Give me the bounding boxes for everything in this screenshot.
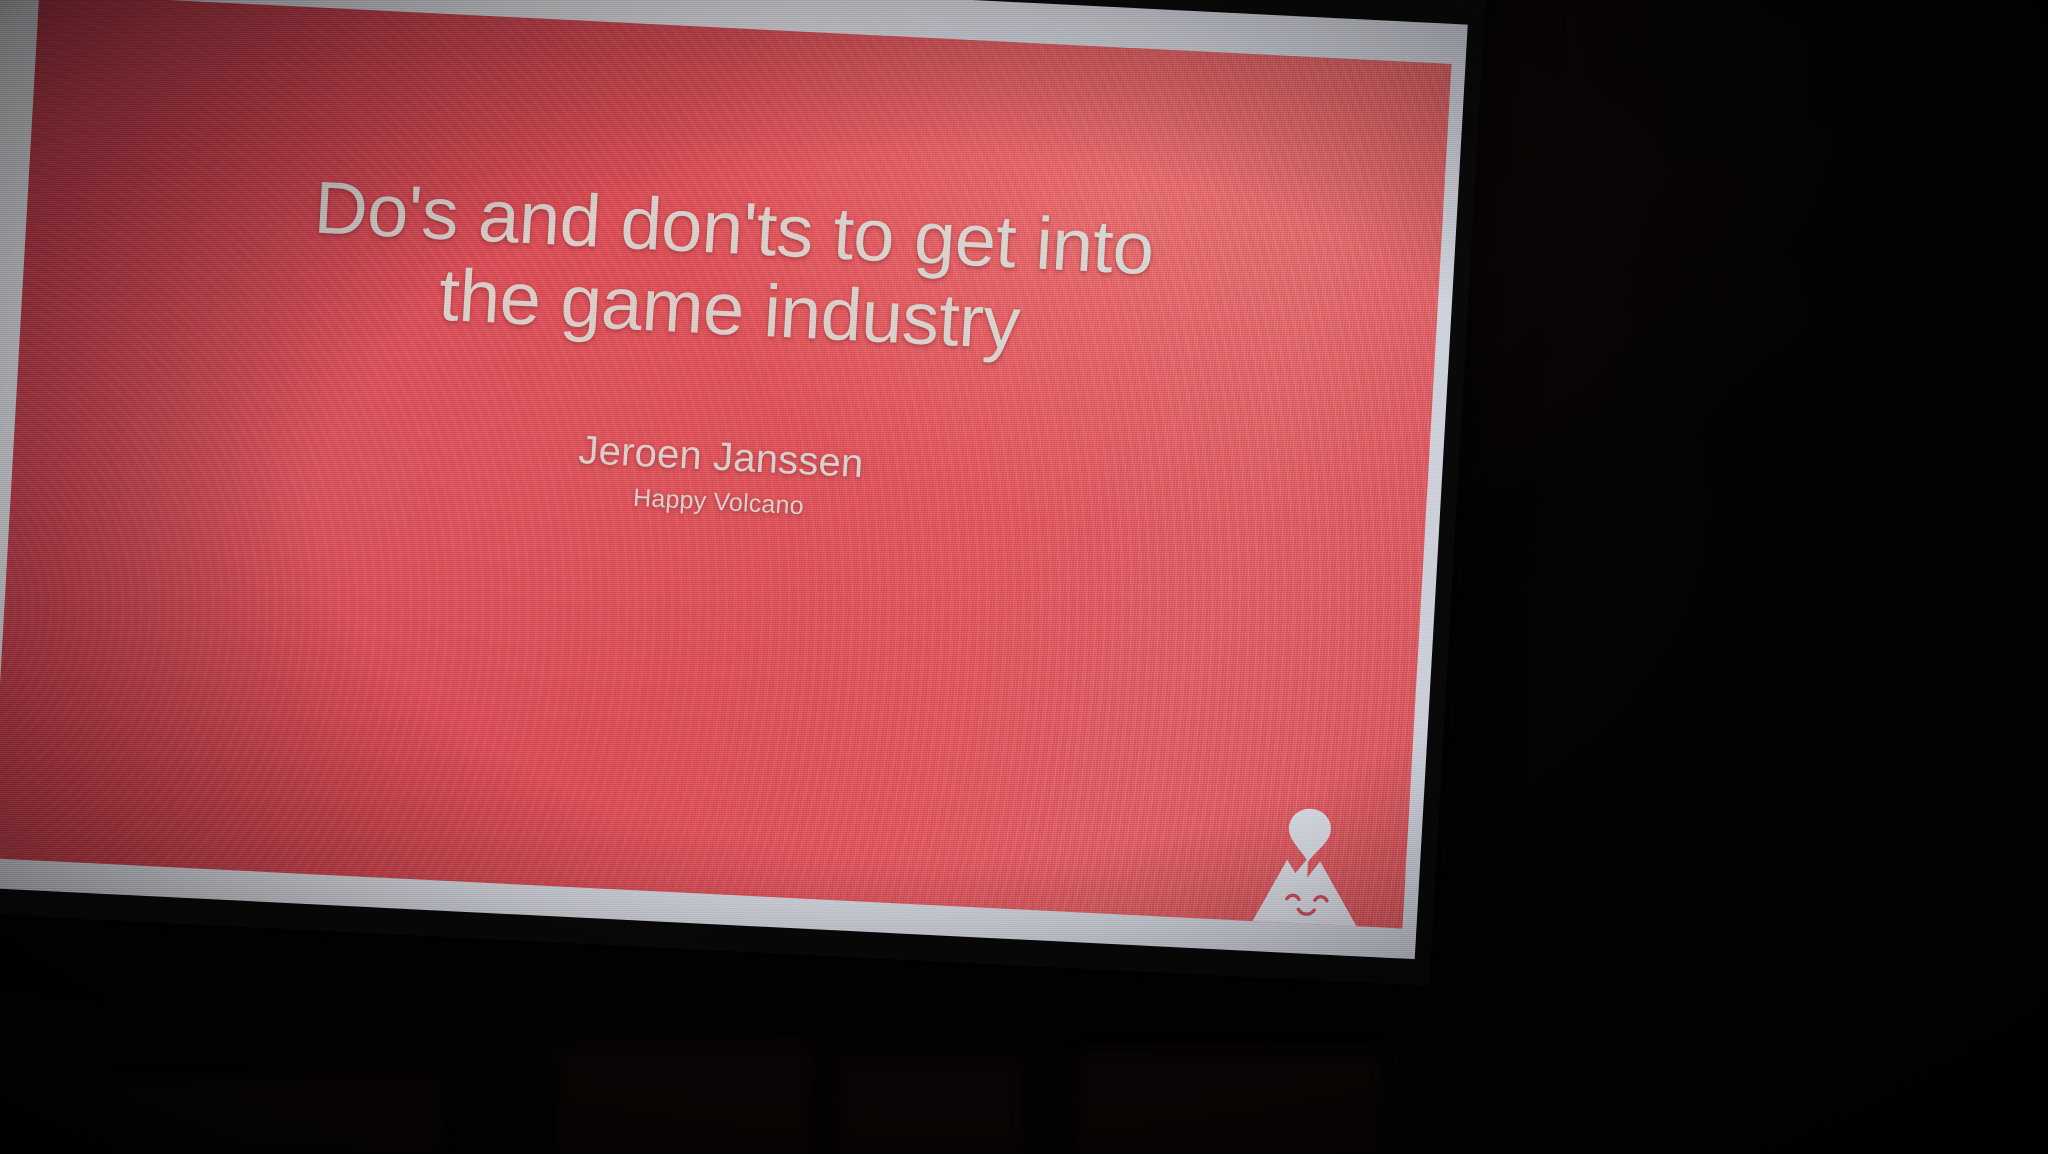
room-silhouette <box>840 1060 1020 1154</box>
screen-surface: Do's and don'ts to get into the game ind… <box>0 0 1468 959</box>
display-assembly: Do's and don'ts to get into the game ind… <box>0 0 1488 986</box>
room-silhouette <box>1080 1052 1380 1154</box>
slide-text-block: Do's and don'ts to get into the game ind… <box>11 153 1442 552</box>
presentation-slide: Do's and don'ts to get into the game ind… <box>0 0 1452 929</box>
volcano-plume-icon <box>1287 808 1332 863</box>
happy-volcano-logo <box>1251 789 1366 926</box>
room-silhouette <box>560 1046 810 1154</box>
room-silhouette <box>120 1080 440 1154</box>
